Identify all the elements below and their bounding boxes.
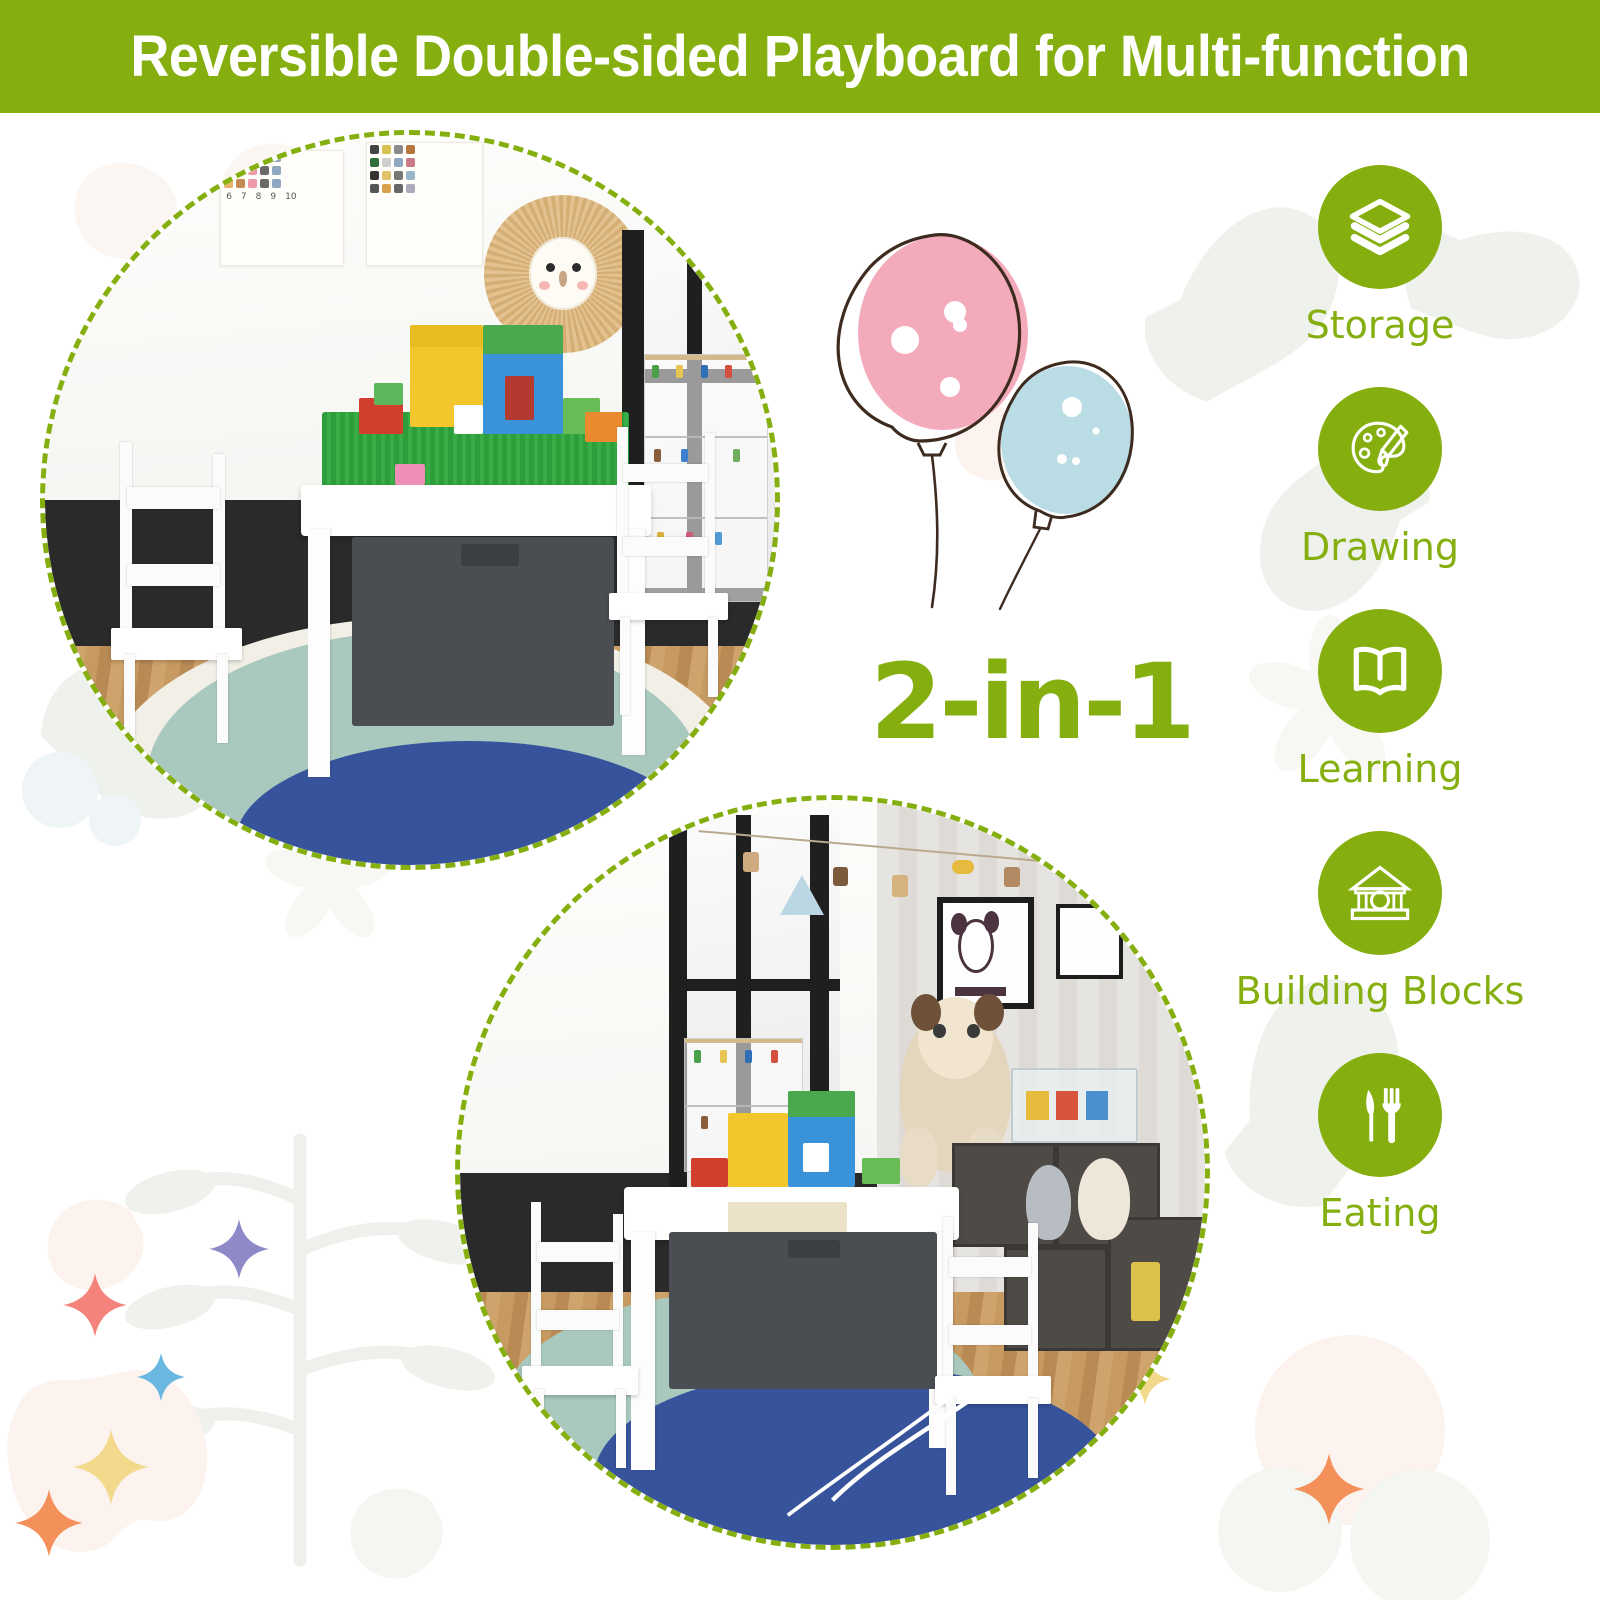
sparkle-star-coral [62, 1272, 128, 1338]
feature-learning[interactable]: Learning [1230, 609, 1530, 791]
feature-storage[interactable]: Storage [1230, 165, 1530, 347]
sparkle-star-orange [1292, 1452, 1366, 1526]
alphabet-poster [366, 142, 483, 266]
product-photo-lego-side: 678910 [40, 130, 780, 870]
sparkle-star-purple [208, 1218, 270, 1280]
product-photo-flat-side [455, 795, 1210, 1550]
feature-label: Eating [1320, 1191, 1441, 1235]
feature-label: Building Blocks [1236, 969, 1525, 1013]
feature-label: Drawing [1301, 525, 1459, 569]
balloons-decoration [800, 215, 1160, 615]
chair-right [600, 427, 746, 734]
two-in-one-label: 2-in-1 [870, 650, 1193, 754]
feature-icon-circle [1318, 609, 1442, 733]
feature-label: Storage [1306, 303, 1455, 347]
pink-balloon [858, 236, 1028, 430]
chair-left [111, 442, 272, 763]
feature-icon-circle [1318, 1053, 1442, 1177]
page-title: Reversible Double-sided Playboard for Mu… [130, 28, 1469, 86]
house-pillars-icon [1346, 859, 1414, 927]
feature-list: Storage Drawing Learning [1230, 165, 1530, 1235]
feature-icon-circle [1318, 387, 1442, 511]
feature-building-blocks[interactable]: Building Blocks [1230, 831, 1530, 1013]
feature-icon-circle [1318, 831, 1442, 955]
table-top [301, 485, 651, 536]
knife-fork-icon [1349, 1084, 1411, 1146]
feature-eating[interactable]: Eating [1230, 1053, 1530, 1235]
layers-icon [1346, 193, 1414, 261]
feature-label: Learning [1298, 747, 1463, 791]
sparkle-star-blue [136, 1352, 186, 1402]
number-poster: 678910 [220, 150, 344, 267]
lion-wall-decoration [498, 208, 629, 339]
palette-icon [1347, 416, 1413, 482]
sparkle-star-orange-bottomleft [14, 1488, 84, 1558]
feature-drawing[interactable]: Drawing [1230, 387, 1530, 569]
feature-icon-circle [1318, 165, 1442, 289]
open-book-icon [1347, 638, 1413, 704]
header-banner: Reversible Double-sided Playboard for Mu… [0, 0, 1600, 113]
